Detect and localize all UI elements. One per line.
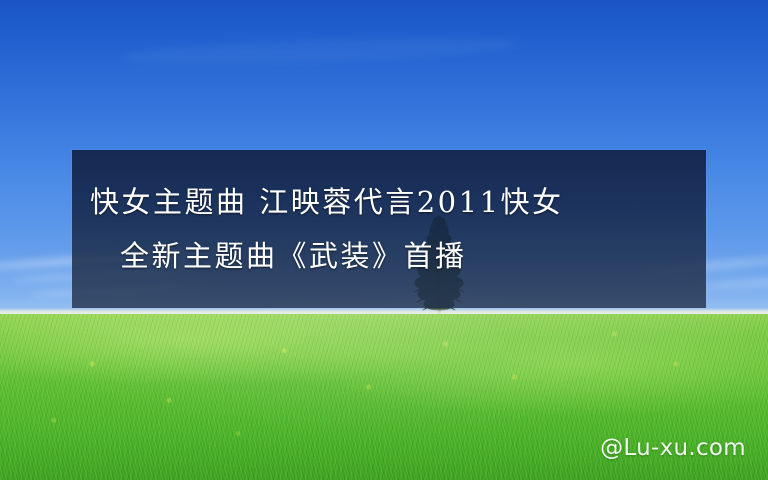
site-watermark: @Lu-xu.com [600, 435, 746, 461]
caption-line-2: 全新主题曲《武装》首播 [90, 229, 706, 283]
caption-line-1: 快女主题曲 江映蓉代言2011快女 [90, 175, 706, 229]
image-canvas: 快女主题曲 江映蓉代言2011快女 全新主题曲《武装》首播 @Lu-xu.com [0, 0, 768, 480]
caption-text-block: 快女主题曲 江映蓉代言2011快女 全新主题曲《武装》首播 [72, 150, 706, 308]
caption-overlay-panel: 快女主题曲 江映蓉代言2011快女 全新主题曲《武装》首播 [72, 150, 706, 308]
